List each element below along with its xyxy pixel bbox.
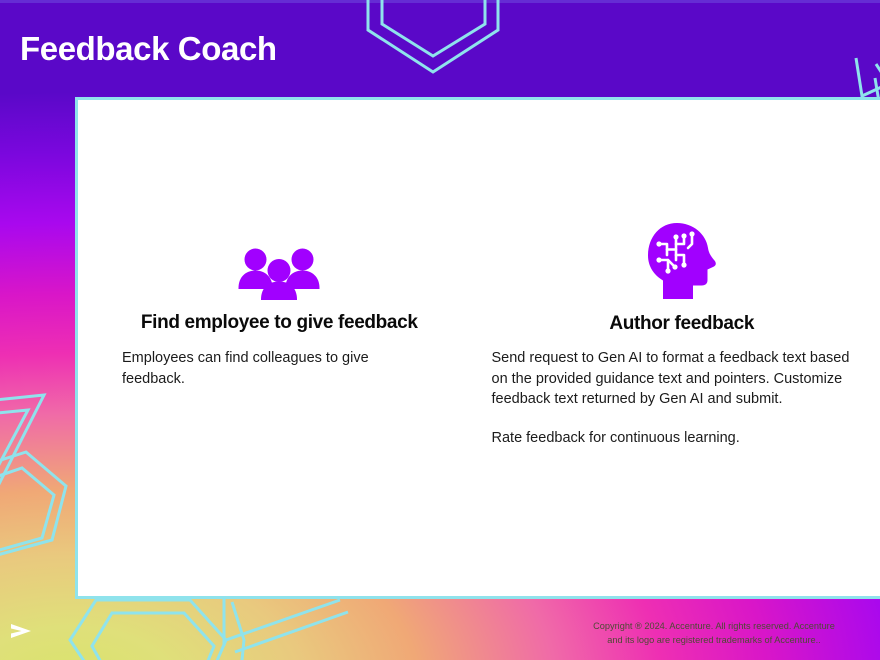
feature-column-find-employee: Find employee to give feedback Employees…: [78, 100, 481, 596]
feature-heading: Author feedback: [481, 313, 880, 335]
people-group-icon: [78, 230, 481, 300]
feature-paragraph: Employees can find colleagues to give fe…: [122, 348, 421, 389]
feature-paragraph: Send request to Gen AI to format a feedb…: [492, 348, 864, 410]
copyright-notice: Copyright ® 2024. Accenture. All rights …: [564, 620, 864, 647]
feature-body: Send request to Gen AI to format a feedb…: [492, 348, 864, 449]
feature-heading: Find employee to give feedback: [78, 312, 481, 334]
ai-head-icon: [481, 210, 880, 300]
feature-paragraph: Rate feedback for continuous learning.: [492, 428, 864, 449]
feature-body: Employees can find colleagues to give fe…: [122, 348, 421, 389]
copyright-line-2: and its logo are registered trademarks o…: [564, 634, 864, 647]
slide-root: Feedback Coach: [0, 0, 880, 660]
feature-columns: Find employee to give feedback Employees…: [78, 100, 880, 596]
content-card: Find employee to give feedback Employees…: [75, 97, 880, 599]
accenture-logo: [8, 618, 36, 644]
feature-column-author-feedback: Author feedback Send request to Gen AI t…: [481, 100, 880, 596]
copyright-line-1: Copyright ® 2024. Accenture. All rights …: [564, 620, 864, 633]
page-title: Feedback Coach: [20, 31, 277, 67]
